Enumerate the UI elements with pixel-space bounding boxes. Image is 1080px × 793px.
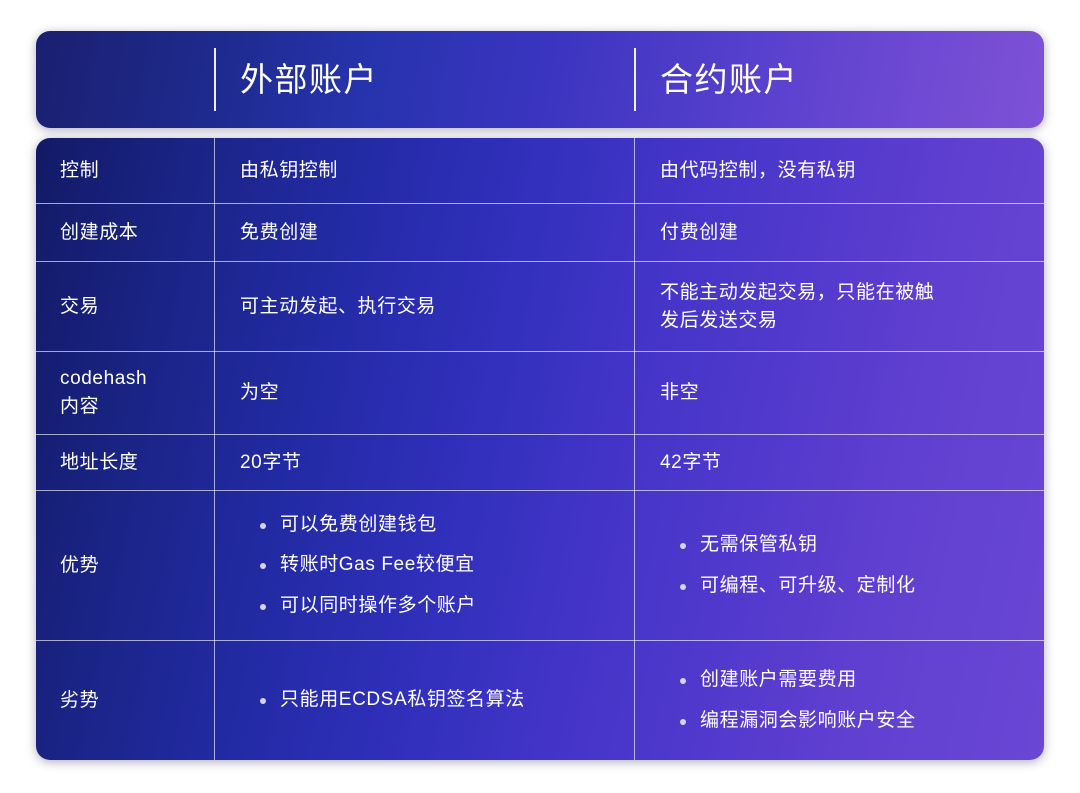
comparison-table-slide: 外部账户 合约账户 控制 由私钥控制 由代码控制，没有私钥 创建成本 免费创建 …: [0, 0, 1080, 793]
row-label-advantages: 优势: [36, 491, 214, 640]
row-label-address-length: 地址长度: [36, 435, 214, 490]
row-label-disadvantages: 劣势: [36, 641, 214, 760]
row-value-advantages-external: 可以免费创建钱包转账时Gas Fee较便宜可以同时操作多个账户: [214, 491, 634, 640]
row-value-transaction-external: 可主动发起、执行交易: [214, 262, 634, 351]
bullet-list: 无需保管私钥可编程、可升级、定制化: [660, 532, 1026, 599]
table-header-card: 外部账户 合约账户: [36, 31, 1044, 128]
row-value-address-length-contract: 42字节: [634, 435, 1044, 490]
bullet-item: 编程漏洞会影响账户安全: [680, 708, 1026, 735]
row-value-disadvantages-external: 只能用ECDSA私钥签名算法: [214, 641, 634, 760]
row-value-disadvantages-contract: 创建账户需要费用编程漏洞会影响账户安全: [634, 641, 1044, 760]
bullet-item: 可编程、可升级、定制化: [680, 573, 1026, 600]
bullet-list: 只能用ECDSA私钥签名算法: [240, 687, 616, 714]
row-value-advantages-contract: 无需保管私钥可编程、可升级、定制化: [634, 491, 1044, 640]
row-value-creation-cost-external: 免费创建: [214, 204, 634, 261]
row-value-control-contract: 由代码控制，没有私钥: [634, 138, 1044, 203]
row-label-control: 控制: [36, 138, 214, 203]
bullet-list: 可以免费创建钱包转账时Gas Fee较便宜可以同时操作多个账户: [240, 512, 616, 620]
header-cell-external-account: 外部账户: [214, 31, 634, 128]
table-body-card: 控制 由私钥控制 由代码控制，没有私钥 创建成本 免费创建 付费创建 交易 可主…: [36, 138, 1044, 760]
bullet-item: 无需保管私钥: [680, 532, 1026, 559]
table-row: 创建成本 免费创建 付费创建: [36, 203, 1044, 261]
table-row: 优势 可以免费创建钱包转账时Gas Fee较便宜可以同时操作多个账户 无需保管私…: [36, 490, 1044, 640]
bullet-item: 可以同时操作多个账户: [260, 593, 616, 620]
row-label-creation-cost: 创建成本: [36, 204, 214, 261]
table-row: 地址长度 20字节 42字节: [36, 434, 1044, 490]
bullet-list: 创建账户需要费用编程漏洞会影响账户安全: [660, 667, 1026, 734]
row-value-codehash-external: 为空: [214, 352, 634, 434]
bullet-item: 创建账户需要费用: [680, 667, 1026, 694]
table-row: 控制 由私钥控制 由代码控制，没有私钥: [36, 138, 1044, 203]
table-row: 劣势 只能用ECDSA私钥签名算法 创建账户需要费用编程漏洞会影响账户安全: [36, 640, 1044, 760]
row-value-address-length-external: 20字节: [214, 435, 634, 490]
row-label-codehash-content: codehash 内容: [36, 352, 214, 434]
table-body-rows: 控制 由私钥控制 由代码控制，没有私钥 创建成本 免费创建 付费创建 交易 可主…: [36, 138, 1044, 760]
row-value-transaction-contract: 不能主动发起交易，只能在被触 发后发送交易: [634, 262, 1044, 351]
header-cell-contract-account: 合约账户: [634, 31, 1044, 128]
bullet-item: 转账时Gas Fee较便宜: [260, 552, 616, 579]
row-label-transaction: 交易: [36, 262, 214, 351]
bullet-item: 可以免费创建钱包: [260, 512, 616, 539]
bullet-item: 只能用ECDSA私钥签名算法: [260, 687, 616, 714]
table-row: codehash 内容 为空 非空: [36, 351, 1044, 434]
table-header-row: 外部账户 合约账户: [36, 31, 1044, 128]
header-cell-blank: [36, 31, 214, 128]
row-value-codehash-contract: 非空: [634, 352, 1044, 434]
table-row: 交易 可主动发起、执行交易 不能主动发起交易，只能在被触 发后发送交易: [36, 261, 1044, 351]
row-value-creation-cost-contract: 付费创建: [634, 204, 1044, 261]
row-value-control-external: 由私钥控制: [214, 138, 634, 203]
